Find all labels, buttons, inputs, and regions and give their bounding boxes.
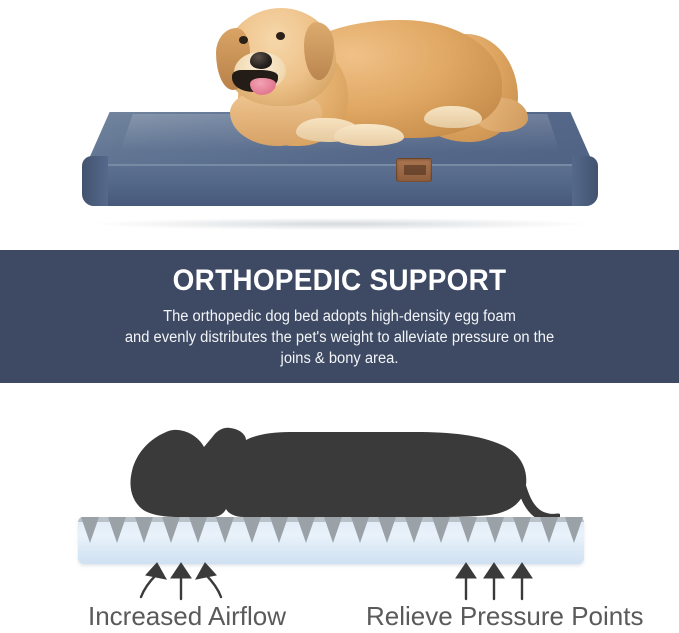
foam-diagram-section: Increased Airflow Relieve Pressure Point…	[0, 383, 679, 633]
foam-tooth	[459, 517, 477, 543]
foam-tooth	[216, 517, 234, 543]
label-increased-airflow: Increased Airflow	[88, 601, 286, 631]
foam-tooth	[378, 517, 396, 543]
dog-silhouette-svg	[120, 421, 560, 526]
foam-tooth	[270, 517, 288, 543]
foam-tooth	[565, 517, 583, 543]
pressure-arrow-head-2	[484, 563, 504, 578]
banner-description-line-2: and evenly distributes the pet's weight …	[17, 327, 662, 348]
banner-description: The orthopedic dog bed adopts high-densi…	[17, 296, 662, 369]
dog-eye-right	[276, 32, 285, 40]
banner-title: ORTHOPEDIC SUPPORT	[24, 250, 655, 296]
dog-nose	[250, 52, 272, 69]
dog-silhouette-path	[130, 428, 526, 517]
foam-tooth	[81, 517, 99, 543]
pressure-arrow-head-3	[512, 563, 532, 578]
egg-crate-teeth	[78, 517, 584, 547]
product-infographic: ORTHOPEDIC SUPPORT The orthopedic dog be…	[0, 0, 679, 633]
foam-tooth	[324, 517, 342, 543]
airflow-arrows	[141, 563, 221, 599]
dog-rear-paw	[424, 106, 482, 128]
airflow-arrow-head-left	[146, 563, 166, 579]
foam-tooth	[486, 517, 504, 543]
foam-tooth	[405, 517, 423, 543]
bed-front-panel	[84, 166, 596, 206]
foam-tooth	[243, 517, 261, 543]
diagram-arrows	[0, 561, 679, 603]
golden-retriever-photo	[176, 0, 506, 169]
airflow-arrow-head-middle	[171, 563, 191, 578]
airflow-arrow-curved-left	[141, 575, 156, 597]
foam-tooth	[135, 517, 153, 543]
foam-tooth	[540, 517, 558, 543]
bed-right-edge	[572, 156, 598, 206]
label-relieve-pressure-points: Relieve Pressure Points	[366, 601, 643, 631]
dog-silhouette	[120, 421, 560, 526]
orthopedic-support-banner: ORTHOPEDIC SUPPORT The orthopedic dog be…	[0, 250, 679, 383]
foam-tooth	[432, 517, 450, 543]
airflow-arrow-head-right	[196, 563, 216, 579]
foam-tooth	[108, 517, 126, 543]
airflow-arrow-curved-right	[206, 575, 221, 597]
foam-tooth	[189, 517, 207, 543]
banner-description-line-3: joins & bony area.	[17, 348, 662, 369]
dog-tail-silhouette	[520, 481, 558, 518]
bed-left-edge	[82, 156, 108, 206]
banner-description-line-1: The orthopedic dog bed adopts high-densi…	[17, 306, 662, 327]
foam-tooth	[351, 517, 369, 543]
diagram-arrows-svg	[0, 561, 679, 603]
pressure-arrows	[456, 563, 532, 599]
dog-front-paw-right	[334, 124, 404, 146]
egg-foam-mattress	[78, 517, 584, 564]
diagram-labels: Increased Airflow Relieve Pressure Point…	[0, 601, 679, 633]
dog-eye-left	[239, 36, 248, 44]
egg-crate-teeth-svg	[78, 517, 584, 547]
foam-tooth	[513, 517, 531, 543]
foam-tooth	[297, 517, 315, 543]
foam-tooth	[162, 517, 180, 543]
pressure-arrow-head-1	[456, 563, 476, 578]
product-photo-section	[0, 0, 679, 250]
